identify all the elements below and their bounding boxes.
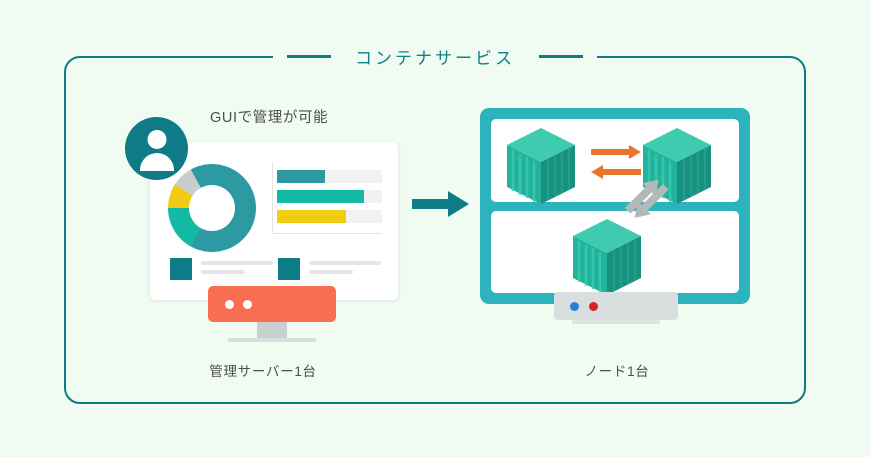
stat-placeholder-lines (309, 258, 381, 279)
management-server-group: GUIで管理が可能 (118, 96, 408, 386)
stat-swatch (170, 258, 192, 280)
dashboard-panel (150, 142, 398, 300)
node-screen (480, 108, 750, 304)
management-server-label: 管理サーバー1台 (118, 360, 408, 380)
avatar-body (140, 153, 174, 171)
bar-fill-1 (277, 190, 364, 203)
bar-row (277, 210, 382, 223)
status-led (225, 300, 234, 309)
bar-fill-2 (277, 210, 346, 223)
diagonal-exchange-arrow-icon (618, 170, 674, 231)
stat-swatch (278, 258, 300, 280)
node-label: ノード1台 (472, 360, 762, 380)
stat-placeholder-lines (201, 258, 273, 279)
upper-shelf (491, 119, 739, 202)
donut-chart (168, 164, 256, 252)
stat-line (309, 270, 353, 274)
node-group: ノード1台 (472, 96, 762, 386)
status-led (243, 300, 252, 309)
bar-fill-0 (277, 170, 325, 183)
stat-line (201, 261, 273, 265)
monitor-foot (572, 320, 660, 324)
lower-shelf (491, 211, 739, 294)
stat-line (201, 270, 245, 274)
bar-chart (272, 162, 382, 234)
status-led-blue (570, 302, 579, 311)
management-server-base (208, 286, 336, 322)
donut-hole (189, 185, 235, 231)
right-arrow-icon (412, 189, 470, 219)
avatar-head (147, 130, 166, 149)
stat-widget (170, 258, 273, 280)
stat-line (309, 261, 381, 265)
stat-widget (278, 258, 381, 280)
bar-row (277, 170, 382, 183)
node-base (554, 292, 678, 320)
container-cube-icon (507, 128, 575, 209)
monitor-foot (228, 338, 316, 342)
status-led-red (589, 302, 598, 311)
bar-row (277, 190, 382, 203)
user-avatar-icon (125, 117, 188, 180)
gui-caption: GUIで管理が可能 (210, 106, 328, 127)
